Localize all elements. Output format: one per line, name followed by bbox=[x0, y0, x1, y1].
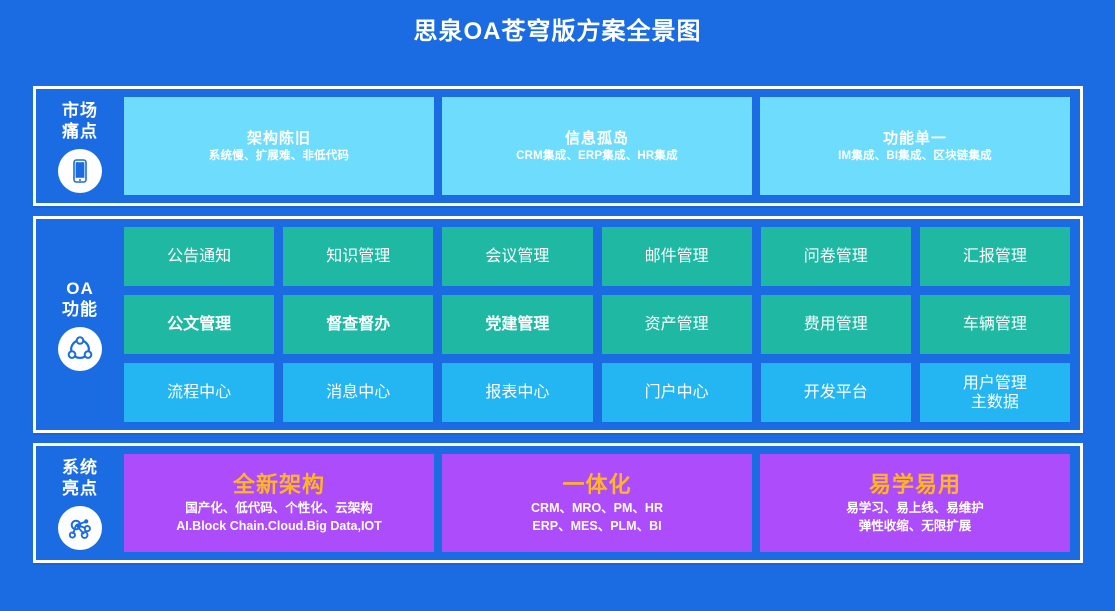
highlight-card[interactable]: 全新架构 国产化、低代码、个性化、云架构 AI.Block Chain.Clou… bbox=[124, 454, 434, 552]
oa-function-cell[interactable]: 流程中心 bbox=[124, 363, 274, 422]
oa-function-cell[interactable]: 资产管理 bbox=[602, 295, 752, 354]
highlight-grid: 全新架构 国产化、低代码、个性化、云架构 AI.Block Chain.Clou… bbox=[124, 454, 1070, 552]
highlight-subtitle-line-1: 国产化、低代码、个性化、云架构 bbox=[185, 500, 373, 516]
section-system-highlights: 系统 亮点 全新架构 国产化、低代码、个性化、云架构 AI.Block Chai bbox=[33, 443, 1083, 563]
mobile-phone-icon bbox=[58, 149, 102, 193]
oa-function-cell[interactable]: 问卷管理 bbox=[761, 227, 911, 286]
section-label-market-pain-points: 市场 痛点 bbox=[36, 89, 124, 203]
section-body-system-highlights: 全新架构 国产化、低代码、个性化、云架构 AI.Block Chain.Clou… bbox=[124, 446, 1080, 560]
highlight-title: 一体化 bbox=[562, 472, 631, 498]
pain-point-card[interactable]: 信息孤岛 CRM集成、ERP集成、HR集成 bbox=[442, 97, 752, 195]
pain-point-title: 信息孤岛 bbox=[565, 129, 629, 148]
section-label-line-2: 痛点 bbox=[62, 121, 98, 142]
oa-function-cell[interactable]: 汇报管理 bbox=[920, 227, 1070, 286]
oa-function-cell[interactable]: 知识管理 bbox=[283, 227, 433, 286]
highlight-subtitle-line-1: CRM、MRO、PM、HR bbox=[531, 500, 663, 516]
molecule-network-icon bbox=[58, 506, 102, 550]
oa-function-cell[interactable]: 督查督办 bbox=[283, 295, 433, 354]
section-body-oa-functions: 公告通知 知识管理 会议管理 邮件管理 问卷管理 汇报管理 公文管理 督查督办 … bbox=[124, 219, 1080, 430]
oa-function-cell[interactable]: 开发平台 bbox=[761, 363, 911, 422]
oa-function-cell[interactable]: 报表中心 bbox=[442, 363, 592, 422]
oa-function-cell[interactable]: 车辆管理 bbox=[920, 295, 1070, 354]
section-label-line-2: 亮点 bbox=[62, 478, 98, 499]
pain-point-title: 功能单一 bbox=[883, 129, 947, 148]
highlight-subtitle-line-2: AI.Block Chain.Cloud.Big Data,IOT bbox=[176, 518, 382, 534]
oa-function-cell[interactable]: 门户中心 bbox=[602, 363, 752, 422]
oa-function-cell[interactable]: 邮件管理 bbox=[602, 227, 752, 286]
section-label-line-2: 功能 bbox=[62, 299, 98, 320]
highlight-card[interactable]: 一体化 CRM、MRO、PM、HR ERP、MES、PLM、BI bbox=[442, 454, 752, 552]
section-market-pain-points: 市场 痛点 架构陈旧 系统慢、扩展难、非低代码 信息孤岛 CRM集成、ERP集成… bbox=[33, 86, 1083, 206]
section-oa-functions: OA 功能 公告通知 知识管理 会议管理 邮件管理 问卷管理 bbox=[33, 216, 1083, 433]
pain-point-grid: 架构陈旧 系统慢、扩展难、非低代码 信息孤岛 CRM集成、ERP集成、HR集成 … bbox=[124, 97, 1070, 195]
section-label-oa-functions: OA 功能 bbox=[36, 219, 124, 430]
section-label-line-1: 系统 bbox=[62, 457, 98, 478]
highlight-card[interactable]: 易学易用 易学习、易上线、易维护 弹性收缩、无限扩展 bbox=[760, 454, 1070, 552]
section-label-line-1: OA bbox=[66, 278, 94, 299]
highlight-subtitle-line-1: 易学习、易上线、易维护 bbox=[846, 500, 984, 516]
pain-point-subtitle: IM集成、BI集成、区块链集成 bbox=[838, 149, 992, 164]
oa-function-grid: 公告通知 知识管理 会议管理 邮件管理 问卷管理 汇报管理 公文管理 督查督办 … bbox=[124, 227, 1070, 422]
diagram-sections: 市场 痛点 架构陈旧 系统慢、扩展难、非低代码 信息孤岛 CRM集成、ERP集成… bbox=[33, 86, 1083, 573]
section-label-system-highlights: 系统 亮点 bbox=[36, 446, 124, 560]
pain-point-title: 架构陈旧 bbox=[247, 129, 311, 148]
page-title: 思泉OA苍穹版方案全景图 bbox=[0, 0, 1115, 50]
oa-function-cell[interactable]: 消息中心 bbox=[283, 363, 433, 422]
highlight-title: 易学易用 bbox=[869, 472, 961, 498]
oa-function-cell[interactable]: 公文管理 bbox=[124, 295, 274, 354]
highlight-subtitle-line-2: ERP、MES、PLM、BI bbox=[532, 518, 661, 534]
oa-function-cell[interactable]: 会议管理 bbox=[442, 227, 592, 286]
pain-point-subtitle: 系统慢、扩展难、非低代码 bbox=[209, 149, 349, 164]
oa-function-cell[interactable]: 公告通知 bbox=[124, 227, 274, 286]
oa-function-cell[interactable]: 用户管理 主数据 bbox=[920, 363, 1070, 422]
oa-function-cell[interactable]: 费用管理 bbox=[761, 295, 911, 354]
oa-function-cell[interactable]: 党建管理 bbox=[442, 295, 592, 354]
pain-point-card[interactable]: 架构陈旧 系统慢、扩展难、非低代码 bbox=[124, 97, 434, 195]
pain-point-card[interactable]: 功能单一 IM集成、BI集成、区块链集成 bbox=[760, 97, 1070, 195]
highlight-title: 全新架构 bbox=[233, 472, 325, 498]
share-network-icon bbox=[58, 327, 102, 371]
section-label-line-1: 市场 bbox=[62, 100, 98, 121]
highlight-subtitle-line-2: 弹性收缩、无限扩展 bbox=[859, 518, 972, 534]
pain-point-subtitle: CRM集成、ERP集成、HR集成 bbox=[516, 149, 678, 164]
section-body-market-pain-points: 架构陈旧 系统慢、扩展难、非低代码 信息孤岛 CRM集成、ERP集成、HR集成 … bbox=[124, 89, 1080, 203]
